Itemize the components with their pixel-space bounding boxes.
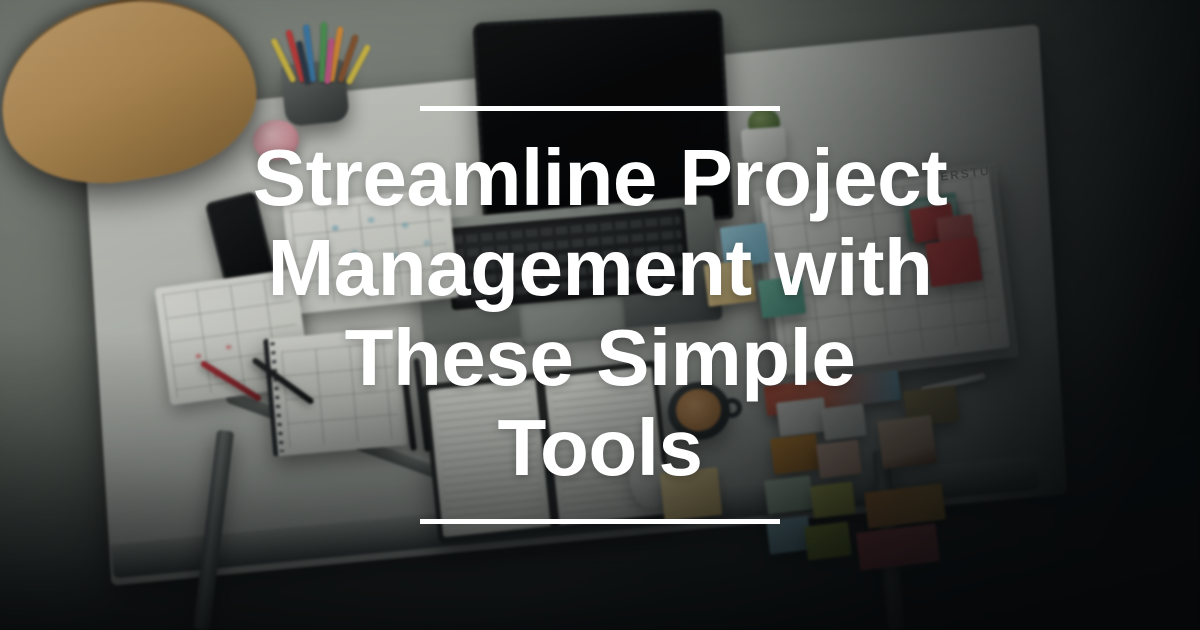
headline-overlay: Streamline Project Management with These… <box>0 0 1200 630</box>
bottom-divider-rule <box>420 519 780 524</box>
top-divider-rule <box>420 106 780 111</box>
page-title: Streamline Project Management with These… <box>250 133 950 493</box>
hero-banner: SERSTUDA <box>0 0 1200 630</box>
